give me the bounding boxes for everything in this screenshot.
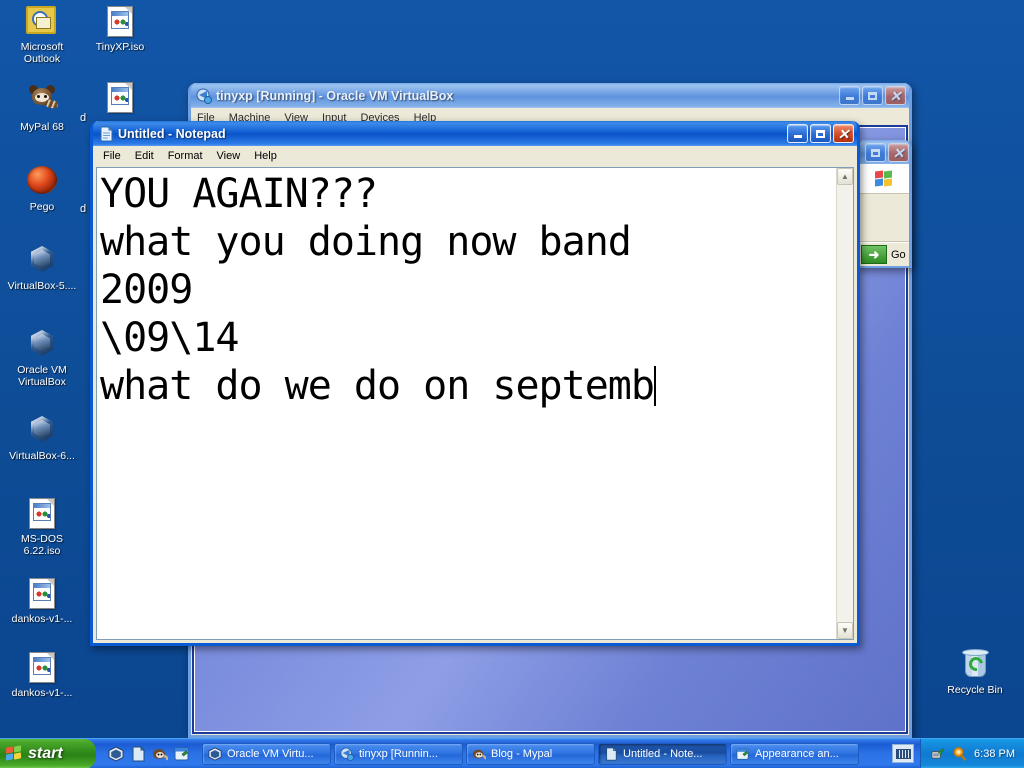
- scroll-up-button[interactable]: ▲: [837, 168, 853, 185]
- mypal-icon: [472, 747, 486, 761]
- taskbar-item-label: Appearance an...: [755, 748, 839, 760]
- desktop-icon-dankos-v1-b[interactable]: dankos-v1-...: [4, 652, 80, 699]
- desktop-icon-label: VirtualBox-5....: [4, 280, 80, 292]
- iso-file-icon: [26, 578, 58, 610]
- notepad-title-text: Untitled - Notepad: [118, 127, 787, 141]
- mypal-toolbar-area: [859, 194, 909, 242]
- mypal-maximize-button[interactable]: [865, 143, 886, 162]
- desktop-icon-label: dankos-v1-...: [4, 613, 80, 625]
- notepad-menu-view[interactable]: View: [210, 148, 248, 164]
- mypal-icon: [26, 86, 58, 118]
- mypal-go-button[interactable]: ➜ Go: [861, 245, 906, 264]
- virtualbox-title-text: tinyxp [Running] - Oracle VM VirtualBox: [216, 89, 839, 103]
- notepad-menu-help[interactable]: Help: [247, 148, 284, 164]
- outlook-icon: [26, 6, 58, 38]
- desktop-icon-label: VirtualBox-6...: [4, 450, 80, 462]
- notepad-icon: [604, 747, 618, 761]
- start-button-label: start: [28, 745, 63, 763]
- truncated-icon-label: d: [80, 203, 86, 215]
- desktop-icon-tinyxp-iso[interactable]: TinyXP.iso: [82, 6, 158, 53]
- desktop-icon-recycle-bin[interactable]: Recycle Bin: [937, 648, 1013, 696]
- notepad-window-buttons[interactable]: ✕: [787, 124, 854, 143]
- taskbar-item-label: tinyxp [Runnin...: [359, 748, 438, 760]
- appearance-icon: [736, 747, 750, 761]
- appearance-icon[interactable]: [174, 746, 190, 762]
- notepad-menu-file[interactable]: File: [96, 148, 128, 164]
- virtualbox-titlebar[interactable]: tinyxp [Running] - Oracle VM VirtualBox …: [191, 83, 909, 108]
- mypal-close-button[interactable]: ✕: [888, 143, 909, 162]
- mypal-address-bar[interactable]: ➜ Go: [859, 242, 909, 266]
- desktop-icon-pego[interactable]: Pego: [4, 164, 80, 213]
- notepad-menu-edit[interactable]: Edit: [128, 148, 161, 164]
- scroll-down-button[interactable]: ▼: [837, 622, 853, 639]
- desktop-icon-dankos-v1-a[interactable]: dankos-v1-...: [4, 578, 80, 625]
- virtualbox-vm-icon: [340, 747, 354, 761]
- keyboard-icon: [896, 749, 911, 759]
- windows-flag-icon: [6, 746, 23, 762]
- desktop[interactable]: Microsoft Outlook TinyXP.iso MyPal 68 Pe…: [0, 0, 1024, 768]
- desktop-icon-label: Recycle Bin: [937, 684, 1013, 696]
- desktop-icon-label: Microsoft Outlook: [4, 41, 80, 65]
- mypal-icon[interactable]: [152, 746, 168, 762]
- desktop-icon-virtualbox-6[interactable]: VirtualBox-6...: [4, 414, 80, 462]
- virtualbox-vm-icon: [196, 88, 212, 104]
- windows-flag-icon: [875, 171, 893, 187]
- desktop-icon-label: Pego: [4, 201, 80, 213]
- search-magnifier-icon[interactable]: [952, 746, 967, 761]
- safely-remove-hardware-icon[interactable]: [930, 746, 945, 761]
- notepad-titlebar[interactable]: Untitled - Notepad ✕: [93, 121, 857, 146]
- notepad-edit-area[interactable]: YOU AGAIN??? what you doing now band 200…: [96, 167, 854, 640]
- virtualbox-cube-icon: [26, 329, 58, 361]
- go-arrow-icon: ➜: [861, 245, 887, 264]
- taskbar-item-tinyxp-running[interactable]: tinyxp [Runnin...: [334, 743, 463, 765]
- desktop-icon-hidden-iso[interactable]: [82, 82, 158, 117]
- iso-file-icon: [104, 6, 136, 38]
- desktop-icon-label: MyPal 68: [4, 121, 80, 133]
- desktop-icon-label: Oracle VM VirtualBox: [4, 364, 80, 388]
- taskbar-item-blog-mypal[interactable]: Blog - Mypal: [466, 743, 595, 765]
- mypal-go-label: Go: [891, 249, 906, 261]
- desktop-icon-label: dankos-v1-...: [4, 687, 80, 699]
- iso-file-icon: [104, 82, 136, 114]
- taskbar[interactable]: start Oracle VM Virtu...: [0, 738, 1024, 768]
- system-tray[interactable]: 6:38 PM: [920, 739, 1024, 768]
- quick-launch-bar[interactable]: [96, 739, 198, 768]
- desktop-icon-microsoft-outlook[interactable]: Microsoft Outlook: [4, 6, 80, 65]
- virtualbox-window-buttons[interactable]: ✕: [839, 86, 906, 105]
- mypal-window-body[interactable]: ➜ Go: [859, 164, 909, 265]
- mypal-browser-window[interactable]: Blog - Mypal ✕ ➜ Go: [856, 140, 912, 268]
- notepad-menu-format[interactable]: Format: [161, 148, 210, 164]
- taskbar-item-label: Oracle VM Virtu...: [227, 748, 314, 760]
- virtualbox-cube-icon: [26, 245, 58, 277]
- notepad-icon[interactable]: [130, 746, 146, 762]
- taskbar-task-list[interactable]: Oracle VM Virtu... tinyxp [Runnin... Blo…: [198, 743, 892, 765]
- taskbar-item-label: Blog - Mypal: [491, 748, 552, 760]
- notepad-maximize-button[interactable]: [810, 124, 831, 143]
- desktop-icon-label: MS-DOS 6.22.iso: [4, 533, 80, 557]
- desktop-icon-oracle-vm-virtualbox[interactable]: Oracle VM VirtualBox: [4, 328, 80, 388]
- language-bar[interactable]: [892, 744, 914, 763]
- virtualbox-close-button[interactable]: ✕: [885, 86, 906, 105]
- taskbar-item-appearance[interactable]: Appearance an...: [730, 743, 859, 765]
- notepad-minimize-button[interactable]: [787, 124, 808, 143]
- virtualbox-minimize-button[interactable]: [839, 86, 860, 105]
- notepad-text-content[interactable]: YOU AGAIN??? what you doing now band 200…: [97, 168, 836, 639]
- truncated-icon-label: d: [80, 112, 86, 124]
- taskbar-item-oracle-vm-virtualbox[interactable]: Oracle VM Virtu...: [202, 743, 331, 765]
- recycle-bin-icon: [959, 649, 991, 681]
- notepad-vertical-scrollbar[interactable]: ▲ ▼: [836, 168, 853, 639]
- notepad-icon: [98, 126, 114, 142]
- system-clock[interactable]: 6:38 PM: [974, 748, 1015, 760]
- taskbar-item-label: Untitled - Note...: [623, 748, 702, 760]
- virtualbox-maximize-button[interactable]: [862, 86, 883, 105]
- notepad-close-button[interactable]: ✕: [833, 124, 854, 143]
- notepad-menubar[interactable]: File Edit Format View Help: [93, 146, 857, 166]
- notepad-window[interactable]: Untitled - Notepad ✕ File Edit Format Vi…: [90, 121, 860, 646]
- desktop-icon-ms-dos-iso[interactable]: MS-DOS 6.22.iso: [4, 498, 80, 557]
- pego-icon: [26, 166, 58, 198]
- desktop-icon-mypal-68[interactable]: MyPal 68: [4, 84, 80, 133]
- mypal-titlebar[interactable]: Blog - Mypal ✕: [859, 140, 909, 165]
- virtualbox-cube-icon: [208, 747, 222, 761]
- text-caret: [654, 366, 656, 406]
- start-button[interactable]: start: [0, 739, 96, 768]
- desktop-icon-virtualbox-5[interactable]: VirtualBox-5....: [4, 244, 80, 292]
- mypal-brand-logo: [859, 164, 909, 194]
- desktop-icon-label: TinyXP.iso: [82, 41, 158, 53]
- virtualbox-cube-icon: [26, 415, 58, 447]
- taskbar-item-untitled-notepad[interactable]: Untitled - Note...: [598, 743, 727, 765]
- iso-file-icon: [26, 498, 58, 530]
- virtualbox-cube-icon[interactable]: [108, 746, 124, 762]
- mypal-window-buttons[interactable]: ✕: [865, 143, 909, 162]
- iso-file-icon: [26, 652, 58, 684]
